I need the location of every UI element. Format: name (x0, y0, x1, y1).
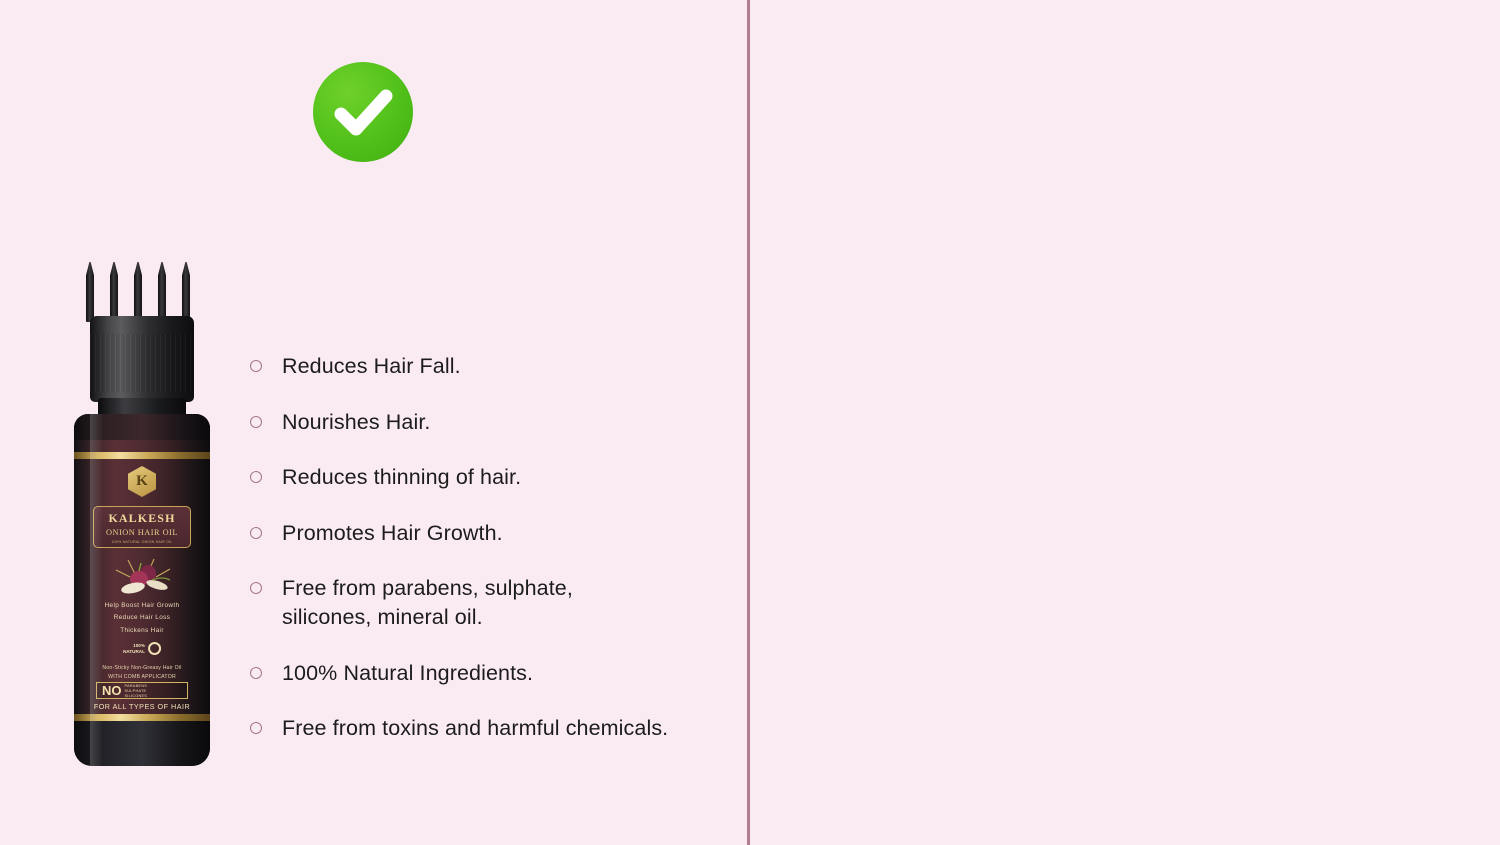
bullet-circle-icon (250, 416, 262, 428)
natural-badge: 100% NATURAL (123, 642, 161, 655)
no-chemicals-badge: NO PARABENS SULPHATE SILICONES (96, 682, 188, 699)
bullet-circle-icon (250, 582, 262, 594)
gold-band-bottom (74, 714, 210, 721)
all-hair-types-text: FOR ALL TYPES OF HAIR (74, 702, 210, 711)
bottle-cap (90, 316, 194, 402)
product-name: ONION HAIR OIL (94, 528, 190, 537)
pros-panel: K KALKESH ONION HAIR OIL 100% NATURAL ON… (0, 0, 747, 845)
list-item: 100% Natural Ingredients. (250, 659, 720, 688)
cons-panel: Does not work on specific issues. Not ab… (750, 0, 1500, 845)
kalkesh-onion-hair-oil-bottle: K KALKESH ONION HAIR OIL 100% NATURAL ON… (66, 262, 218, 767)
brand-hexagon-logo: K (128, 466, 156, 497)
list-item: Promotes Hair Growth. (250, 519, 720, 548)
bullet-circle-icon (250, 471, 262, 483)
brand-plaque: KALKESH ONION HAIR OIL 100% NATURAL ONIO… (93, 506, 191, 548)
list-item: Free from parabens, sulphate, silicones,… (250, 574, 720, 631)
bottle-shoulder (74, 414, 210, 440)
brand-name: KALKESH (94, 511, 190, 526)
bullet-circle-icon (250, 527, 262, 539)
gold-band-top (74, 452, 210, 459)
natural-badge-text: 100% NATURAL (123, 643, 145, 654)
plaque-fineprint: 100% NATURAL ONION HAIR OIL (94, 540, 190, 544)
list-item-label: Free from toxins and harmful chemicals. (282, 714, 668, 743)
bullet-circle-icon (250, 722, 262, 734)
list-item: Free from toxins and harmful chemicals. (250, 714, 720, 743)
comparison-infographic: K KALKESH ONION HAIR OIL 100% NATURAL ON… (0, 0, 1500, 845)
list-item-label: Reduces Hair Fall. (282, 352, 461, 381)
bullet-circle-icon (250, 667, 262, 679)
list-item: Nourishes Hair. (250, 408, 720, 437)
no-badge-list: PARABENS SULPHATE SILICONES (125, 683, 148, 699)
claim-item: Reduce Hair Loss (74, 612, 210, 624)
list-item-label: Promotes Hair Growth. (282, 519, 503, 548)
claim-item: Help Boost Hair Growth (74, 600, 210, 612)
texture-description: Non-Sticky Non-Greasy Hair Oil WITH COMB… (74, 664, 210, 683)
texture-line-1: Non-Sticky Non-Greasy Hair Oil (74, 664, 210, 673)
onion-botanical-illustration (108, 554, 178, 598)
bullet-circle-icon (250, 360, 262, 372)
list-item-label: Free from parabens, sulphate, silicones,… (282, 574, 573, 631)
product-claims: Help Boost Hair Growth Reduce Hair Loss … (74, 600, 210, 637)
bottle-body: K KALKESH ONION HAIR OIL 100% NATURAL ON… (74, 414, 210, 766)
pros-list: Reduces Hair Fall. Nourishes Hair. Reduc… (250, 352, 720, 770)
list-item-label: 100% Natural Ingredients. (282, 659, 533, 688)
list-item: Reduces thinning of hair. (250, 463, 720, 492)
list-item-label: Reduces thinning of hair. (282, 463, 521, 492)
list-item: Reduces Hair Fall. (250, 352, 720, 381)
natural-badge-ring (148, 642, 161, 655)
bottle-base (74, 721, 210, 766)
green-check-circle-icon (313, 62, 413, 162)
list-item-label: Nourishes Hair. (282, 408, 430, 437)
bottle-comb-prongs (84, 262, 200, 324)
claim-item: Thickens Hair (74, 625, 210, 637)
no-badge-label: NO (102, 684, 122, 697)
